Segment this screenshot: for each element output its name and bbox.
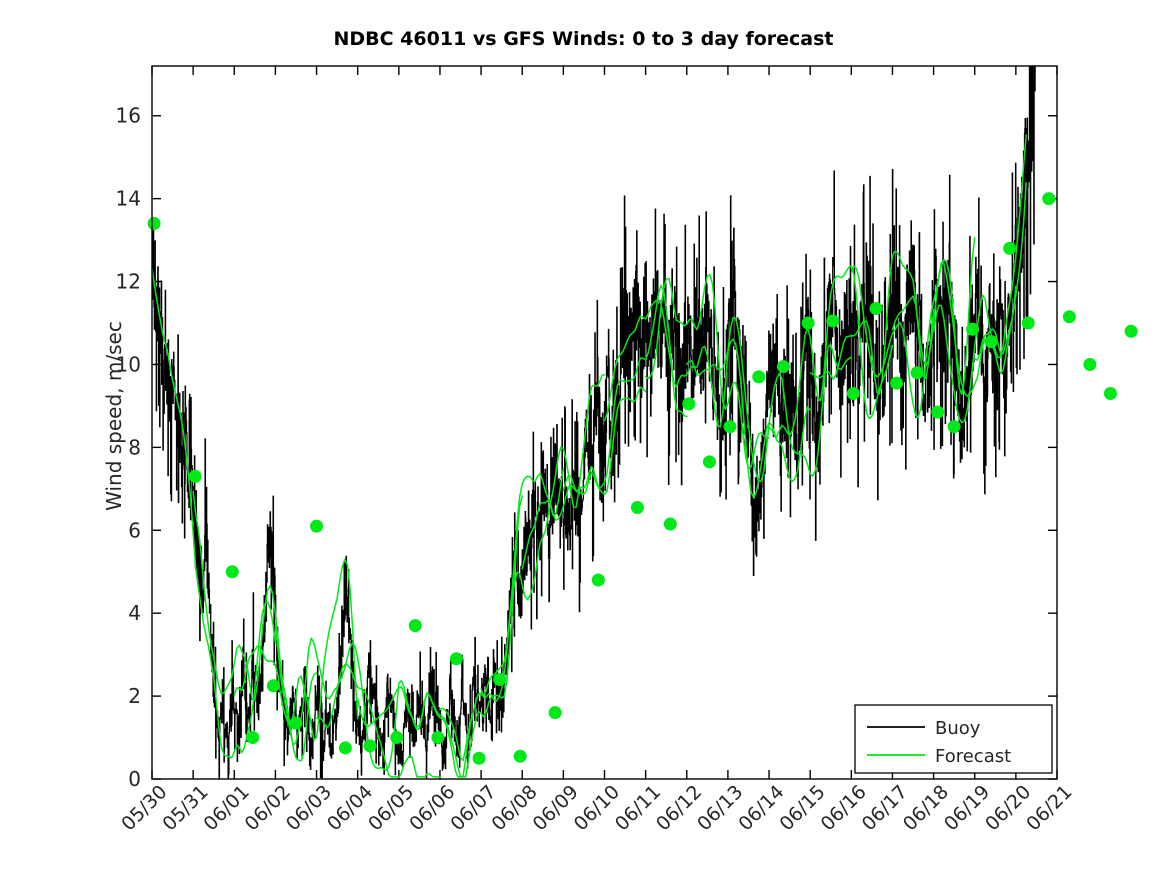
forecast-marker — [1063, 310, 1076, 323]
forecast-marker — [664, 518, 677, 531]
forecast-marker — [1003, 242, 1016, 255]
forecast-marker — [310, 520, 323, 533]
x-tick-label: 06/01 — [200, 781, 254, 835]
forecast-ensemble-member — [399, 496, 522, 777]
y-tick-label: 10 — [116, 352, 141, 376]
forecast-marker — [409, 619, 422, 632]
forecast-marker — [802, 317, 815, 330]
x-tick-label: 06/12 — [652, 781, 706, 835]
forecast-marker — [450, 652, 463, 665]
forecast-marker — [682, 397, 695, 410]
forecast-marker — [703, 455, 716, 468]
y-tick-label: 4 — [128, 601, 141, 625]
x-tick-label: 05/31 — [158, 781, 212, 835]
x-tick-label: 05/30 — [117, 781, 171, 835]
legend[interactable]: BuoyForecast — [855, 705, 1052, 773]
forecast-marker — [431, 731, 444, 744]
forecast-marker — [931, 406, 944, 419]
forecast-marker — [473, 752, 486, 765]
forecast-marker — [966, 323, 979, 336]
y-tick-label: 14 — [116, 187, 141, 211]
y-tick-label: 16 — [116, 104, 141, 128]
forecast-marker — [226, 565, 239, 578]
forecast-marker — [514, 750, 527, 763]
forecast-marker — [1042, 192, 1055, 205]
legend-label-buoy: Buoy — [935, 718, 981, 739]
x-tick-label: 06/07 — [446, 781, 500, 835]
forecast-marker — [847, 387, 860, 400]
forecast-marker — [948, 420, 961, 433]
y-tick-label: 2 — [128, 684, 141, 708]
forecast-marker — [752, 370, 765, 383]
forecast-marker — [1022, 317, 1035, 330]
chart-figure: NDBC 46011 vs GFS Winds: 0 to 3 day fore… — [0, 0, 1167, 875]
x-tick-label: 06/16 — [817, 781, 871, 835]
forecast-marker — [1104, 387, 1117, 400]
x-tick-label: 06/11 — [611, 781, 665, 835]
x-tick-label: 06/18 — [899, 781, 953, 835]
forecast-marker — [549, 706, 562, 719]
forecast-marker — [148, 217, 161, 230]
forecast-marker — [723, 420, 736, 433]
forecast-marker — [339, 741, 352, 754]
y-tick-label: 0 — [128, 767, 141, 791]
forecast-marker — [289, 717, 302, 730]
forecast-marker — [1125, 325, 1138, 338]
x-tick-label: 06/20 — [981, 781, 1035, 835]
forecast-marker — [189, 470, 202, 483]
x-tick-label: 06/02 — [241, 781, 295, 835]
y-tick-label: 12 — [116, 270, 141, 294]
x-tick-label: 06/10 — [570, 781, 624, 835]
forecast-marker — [777, 360, 790, 373]
forecast-marker — [985, 335, 998, 348]
x-tick-label: 06/19 — [940, 781, 994, 835]
forecast-marker — [1083, 358, 1096, 371]
x-tick-label: 06/06 — [405, 781, 459, 835]
forecast-marker — [911, 366, 924, 379]
forecast-marker — [826, 314, 839, 327]
forecast-marker — [390, 731, 403, 744]
forecast-markers — [148, 192, 1138, 765]
plot-canvas: 0246810121416 05/3005/3106/0106/0206/030… — [0, 0, 1167, 875]
forecast-marker — [364, 739, 377, 752]
series-buoy — [152, 66, 1036, 778]
x-tick-label: 06/03 — [282, 781, 336, 835]
x-tick-label: 06/05 — [364, 781, 418, 835]
x-tick-label: 06/21 — [1022, 781, 1076, 835]
y-tick-label: 8 — [128, 435, 141, 459]
x-tick-label: 06/09 — [529, 781, 583, 835]
y-tick-label: 6 — [128, 518, 141, 542]
forecast-marker — [890, 377, 903, 390]
forecast-ensemble-member — [481, 375, 604, 701]
x-tick-label: 06/08 — [487, 781, 541, 835]
x-tick-label: 06/14 — [734, 781, 788, 835]
x-tick-label: 06/04 — [323, 781, 377, 835]
forecast-marker — [631, 501, 644, 514]
x-tick-label: 06/15 — [775, 781, 829, 835]
forecast-marker — [592, 574, 605, 587]
x-tick-label: 06/17 — [858, 781, 912, 835]
x-tick-label: 06/13 — [693, 781, 747, 835]
forecast-marker — [493, 673, 506, 686]
forecast-marker — [870, 302, 883, 315]
legend-label-forecast: Forecast — [935, 746, 1011, 767]
forecast-marker — [267, 679, 280, 692]
buoy-timeseries-path — [152, 66, 1036, 778]
forecast-marker — [246, 731, 259, 744]
